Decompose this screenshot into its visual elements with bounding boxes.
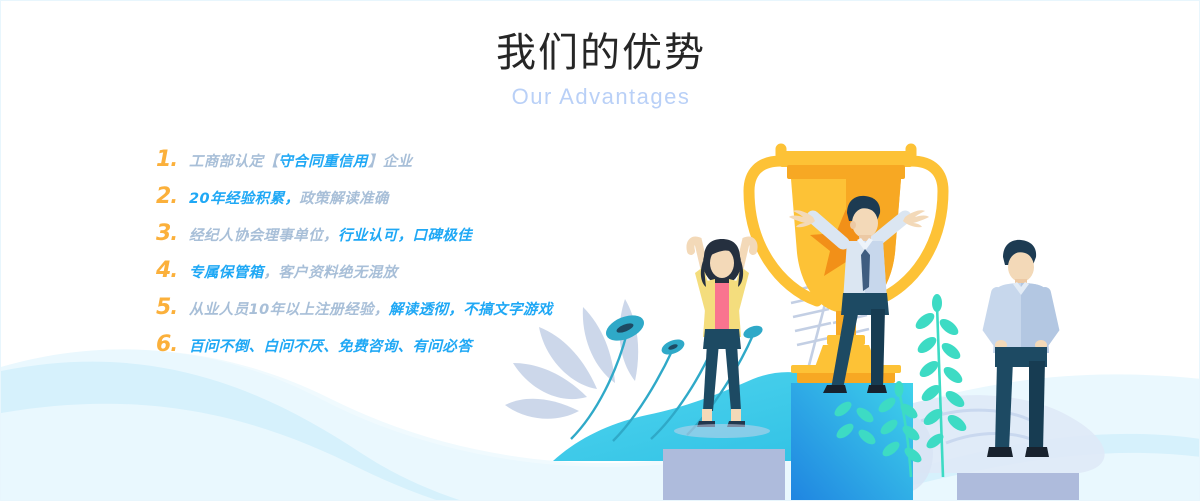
page-title: 我们的优势 <box>1 27 1200 79</box>
sparkle-icon <box>594 413 607 426</box>
advantage-item-5: 5.从业人员10年以上注册经验，解读透彻，不搞文字游戏 <box>156 295 626 332</box>
advantage-text-part: ，客户资料绝无混放 <box>264 265 398 281</box>
advantage-text-part: 】企业 <box>368 154 413 170</box>
page-subtitle: Our Advantages <box>1 82 1200 112</box>
advantages-banner: 我们的优势 Our Advantages 1.工商部认定【守合同重信用】企业2.… <box>0 0 1200 501</box>
heading-block: 我们的优势 Our Advantages <box>1 27 1200 112</box>
advantage-text: 经纪人协会理事单位，行业认可，口碑极佳 <box>189 224 472 245</box>
advantage-text-part: 解读透彻，不搞文字游戏 <box>389 302 553 318</box>
advantage-text: 从业人员10年以上注册经验，解读透彻，不搞文字游戏 <box>189 298 553 319</box>
advantage-number: 2. <box>156 184 189 209</box>
advantage-item-1: 1.工商部认定【守合同重信用】企业 <box>156 147 626 184</box>
advantage-item-2: 2.20年经验积累，政策解读准确 <box>156 184 626 221</box>
advantage-text-part: 20年经验积累， <box>189 191 299 207</box>
advantage-text-part: 政策解读准确 <box>299 191 388 207</box>
advantage-number: 1. <box>156 147 189 172</box>
advantage-text: 专属保管箱，客户资料绝无混放 <box>189 261 398 282</box>
podium-right[interactable] <box>957 473 1079 501</box>
advantage-text: 百问不倒、白问不厌、免费咨询、有问必答 <box>189 335 472 356</box>
advantage-number: 6. <box>156 332 189 357</box>
advantage-item-6: 6.百问不倒、白问不厌、免费咨询、有问必答 <box>156 332 626 369</box>
advantage-item-4: 4.专属保管箱，客户资料绝无混放 <box>156 258 626 295</box>
advantage-text-part: 从业人员10年以上注册经验， <box>189 302 389 318</box>
advantage-text-part: 行业认可，口碑极佳 <box>338 228 472 244</box>
podium-left[interactable] <box>663 449 785 501</box>
advantage-text-part: 守合同重信用 <box>278 154 367 170</box>
advantage-text-part: 专属保管箱 <box>189 265 264 281</box>
advantage-text: 20年经验积累，政策解读准确 <box>189 187 389 208</box>
advantage-item-3: 3.经纪人协会理事单位，行业认可，口碑极佳 <box>156 221 626 258</box>
advantage-text-part: 百问不倒、白问不厌、免费咨询、有问必答 <box>189 339 472 355</box>
advantage-number: 5. <box>156 295 189 320</box>
advantage-text: 工商部认定【守合同重信用】企业 <box>189 150 413 171</box>
advantage-number: 3. <box>156 221 189 246</box>
advantages-list: 1.工商部认定【守合同重信用】企业2.20年经验积累，政策解读准确3.经纪人协会… <box>156 147 626 369</box>
advantage-text-part: 工商部认定【 <box>189 154 278 170</box>
advantage-number: 4. <box>156 258 189 283</box>
advantage-text-part: 经纪人协会理事单位， <box>189 228 338 244</box>
